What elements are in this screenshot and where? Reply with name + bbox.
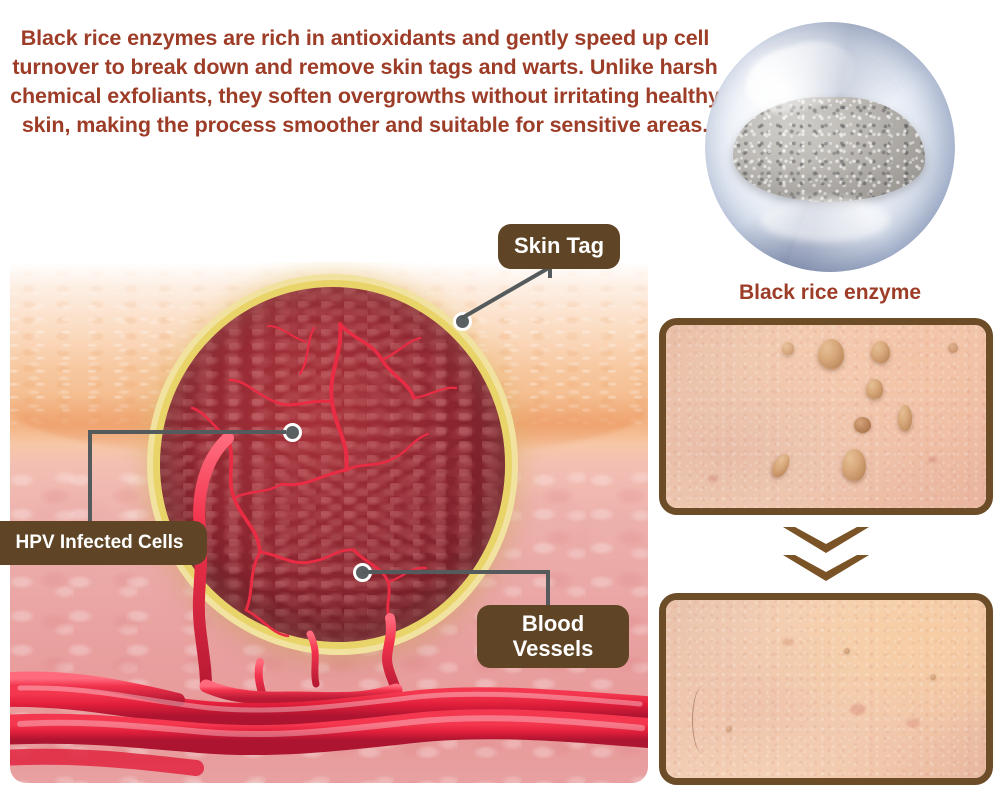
black-rice-enzyme-powder bbox=[733, 97, 926, 202]
skin-tag-mass bbox=[160, 287, 505, 642]
label-hpv-text: HPV Infected Cells bbox=[16, 532, 184, 553]
hpv-leader-vertical bbox=[88, 430, 92, 525]
mass-shading bbox=[160, 287, 505, 642]
skin-tag-bump bbox=[818, 339, 844, 369]
ingredient-caption: Black rice enzyme bbox=[660, 281, 1000, 305]
skin-hair bbox=[692, 686, 714, 754]
label-hpv-infected-cells[interactable]: HPV Infected Cells bbox=[0, 521, 207, 565]
skin-blemish bbox=[726, 726, 732, 732]
label-blood-vessels[interactable]: Blood Vessels bbox=[477, 605, 629, 668]
blood-leader-horizontal bbox=[362, 570, 550, 574]
skin-blemish bbox=[906, 718, 920, 728]
chevron-top bbox=[783, 527, 869, 553]
label-blood-vessels-text: Blood Vessels bbox=[513, 612, 594, 661]
after-skin-texture bbox=[666, 600, 986, 778]
double-chevron-down-icon bbox=[783, 527, 869, 587]
skin-blemish bbox=[782, 638, 794, 646]
skin-tag-bump bbox=[898, 405, 912, 431]
skin-blemish bbox=[930, 674, 936, 680]
skin-tag-bump bbox=[866, 379, 883, 399]
skin-blemish bbox=[928, 457, 937, 463]
skin-tag-bump bbox=[842, 449, 866, 481]
glass-sphere-icon bbox=[705, 22, 955, 272]
before-photo bbox=[659, 318, 993, 515]
skin-tag-bump bbox=[948, 343, 958, 353]
hpv-leader-horizontal bbox=[88, 430, 286, 434]
label-blood-line2: Vessels bbox=[513, 636, 594, 661]
skin-tag-bump bbox=[854, 417, 871, 433]
skin-tag-bump bbox=[782, 342, 794, 355]
skin-blemish bbox=[850, 704, 866, 715]
ingredient-visual bbox=[705, 22, 970, 272]
label-skin-tag-text: Skin Tag bbox=[514, 234, 604, 259]
skin-blemish bbox=[708, 475, 718, 482]
headline-text: Black rice enzymes are rich in antioxida… bbox=[0, 24, 730, 141]
chevron-bottom bbox=[783, 555, 869, 581]
skin-tag-bump bbox=[871, 341, 890, 363]
sphere-lower-highlight bbox=[760, 197, 890, 242]
label-skin-tag[interactable]: Skin Tag bbox=[498, 224, 620, 269]
label-blood-line1: Blood bbox=[522, 611, 584, 636]
skin-blemish bbox=[844, 648, 850, 654]
after-photo bbox=[659, 593, 993, 785]
